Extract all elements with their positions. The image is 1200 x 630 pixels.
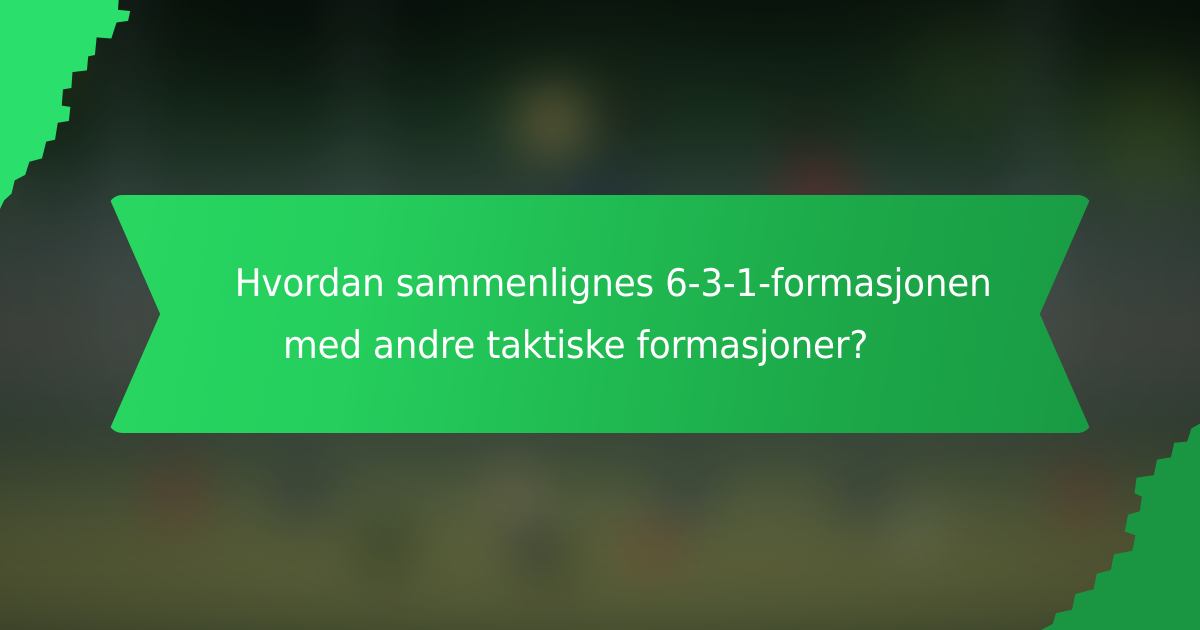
headline: Hvordan sammenlignes 6-3-1-formasjonen m…	[138, 252, 1063, 376]
ribbon-banner: Hvordan sammenlignes 6-3-1-formasjonen m…	[108, 195, 1092, 433]
headline-line-1: Hvordan sammenlignes 6-3-1-formasjonen	[203, 252, 996, 314]
headline-line-2: med andre taktiske formasjoner?	[203, 314, 996, 376]
banner-card: Hvordan sammenlignes 6-3-1-formasjonen m…	[0, 0, 1200, 630]
